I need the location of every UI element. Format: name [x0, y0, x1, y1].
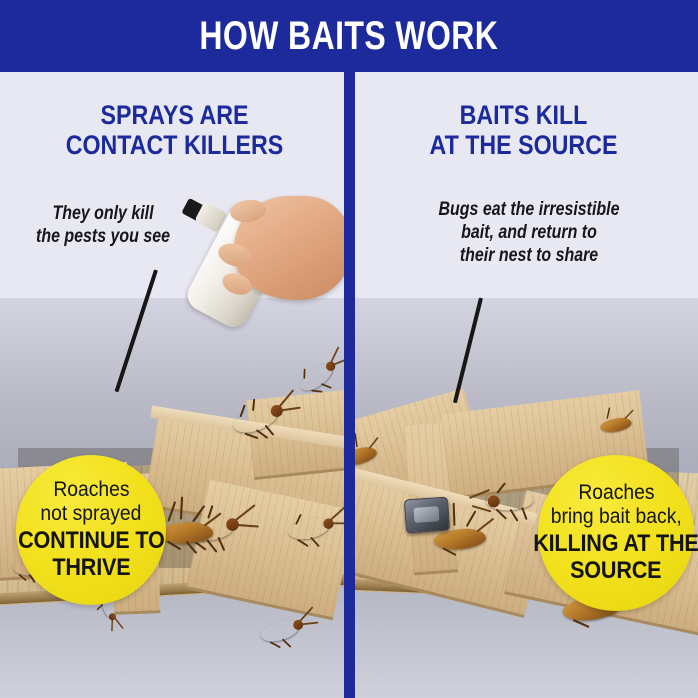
badge-baits: Roaches bring bait back, KILLING AT THE … — [538, 455, 694, 611]
badge-right-line2: bring bait back, — [550, 505, 681, 529]
panel-right-heading-line2: AT THE SOURCE — [373, 130, 673, 160]
badge-right-line3: KILLING AT THE — [533, 530, 698, 558]
badge-right-line1: Roaches — [578, 481, 654, 505]
panel-right-callout-line1: Bugs eat the irresistible — [424, 198, 634, 221]
panel-left-heading-line1: SPRAYS ARE — [24, 100, 324, 130]
panel-divider — [344, 64, 355, 698]
title-band: HOW BAITS WORK — [0, 0, 698, 72]
spray-can-icon — [172, 190, 349, 340]
panel-left-callout-line1: They only kill — [15, 202, 191, 225]
badge-left-line4: THRIVE — [52, 554, 130, 582]
panel-right-callout: Bugs eat the irresistible bait, and retu… — [424, 198, 634, 268]
badge-left-line3: CONTINUE TO — [18, 527, 164, 555]
panel-right-callout-line3: their nest to share — [424, 244, 634, 267]
panel-right-heading: BAITS KILL AT THE SOURCE — [373, 100, 673, 160]
panel-right-heading-line1: BAITS KILL — [373, 100, 673, 130]
badge-left-line2: not sprayed — [41, 502, 142, 526]
panel-left-callout: They only kill the pests you see — [15, 202, 191, 248]
panel-right-callout-line2: bait, and return to — [424, 221, 634, 244]
badge-sprays: Roaches not sprayed CONTINUE TO THRIVE — [16, 455, 166, 605]
page-title: HOW BAITS WORK — [200, 16, 499, 56]
panel-left-heading: SPRAYS ARE CONTACT KILLERS — [24, 100, 324, 160]
badge-right-line4: SOURCE — [570, 557, 661, 585]
bait-station-icon — [404, 497, 450, 534]
badge-left-line1: Roaches — [53, 478, 129, 502]
panel-left-heading-line2: CONTACT KILLERS — [24, 130, 324, 160]
infographic-root: HOW BAITS WORK — [0, 0, 698, 698]
panel-sprays: SPRAYS ARE CONTACT KILLERS They only kil… — [0, 72, 349, 698]
panel-left-callout-line2: the pests you see — [15, 225, 191, 248]
